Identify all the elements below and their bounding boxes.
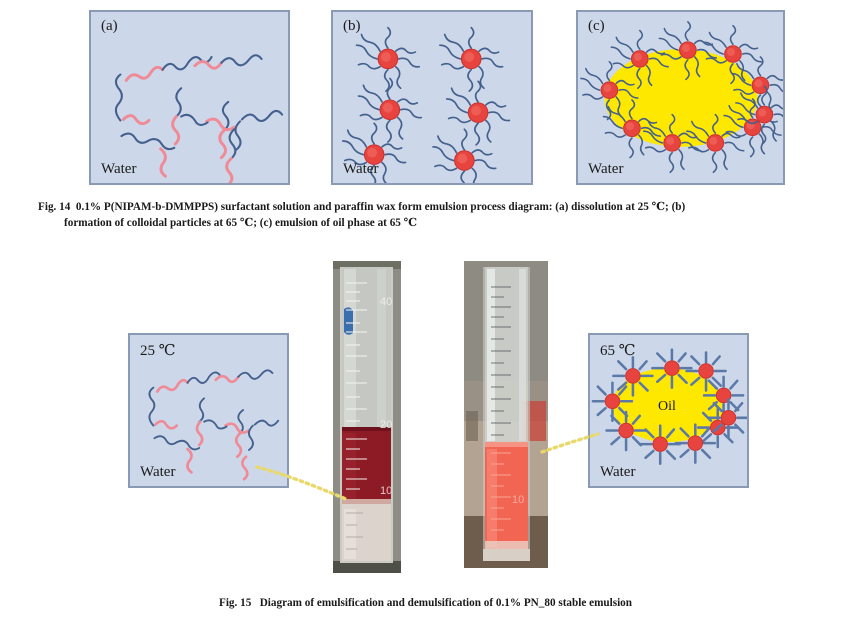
figure14-caption-line2: formation of colloidal particles at 65 ℃… [38, 216, 813, 232]
cold-panel-phase-label: Water [140, 464, 175, 481]
figure14-panel-b: (b) Water [331, 10, 533, 185]
graduation-40: 40 [380, 296, 392, 308]
hot-panel-temperature-label: 65 ℃ [600, 341, 636, 360]
panel-b-phase-label: Water [343, 161, 378, 178]
figure14-caption: Fig. 14 0.1% P(NIPAM-b-DMMPPS) surfactan… [38, 200, 813, 232]
figure15-caption-label: Fig. 15 [219, 597, 251, 609]
panel-c-tag: (c) [588, 18, 605, 35]
figure14-caption-label: Fig. 14 [38, 201, 70, 213]
emulsified-cylinder-image: 10 [464, 261, 548, 568]
figure14-caption-line1: 0.1% P(NIPAM-b-DMMPPS) surfactant soluti… [76, 201, 685, 213]
demulsified-cylinder-image: 40 20 10 [333, 261, 401, 573]
panel-a-illustration [91, 12, 288, 183]
figure15-caption-text: Diagram of emulsification and demulsific… [260, 597, 632, 609]
photo-emulsified-cylinder: 10 [464, 261, 548, 568]
figure15-caption: Fig. 15 Diagram of emulsification and de… [38, 596, 813, 612]
hot-panel-oil-label: Oil [658, 399, 676, 415]
hot-panel-phase-label: Water [600, 464, 635, 481]
figure15-cold-panel: 25 ℃ Water [128, 333, 289, 488]
graduation-10: 10 [512, 494, 524, 506]
cold-panel-temperature-label: 25 ℃ [140, 341, 176, 360]
graduation-20: 20 [380, 419, 392, 431]
figure14-panel-c: (c) Water [576, 10, 785, 185]
panel-c-phase-label: Water [588, 161, 623, 178]
panel-c-illustration [578, 12, 783, 183]
figure14-panel-a: (a) Water [89, 10, 290, 185]
graduation-10: 10 [380, 485, 392, 497]
panel-a-tag: (a) [101, 18, 118, 35]
panel-b-tag: (b) [343, 18, 361, 35]
figure15-hot-panel: 65 ℃ Oil Water [588, 333, 749, 488]
photo-demulsified-cylinder: 40 20 10 [333, 261, 401, 573]
panel-b-illustration [333, 12, 531, 183]
panel-a-phase-label: Water [101, 161, 136, 178]
